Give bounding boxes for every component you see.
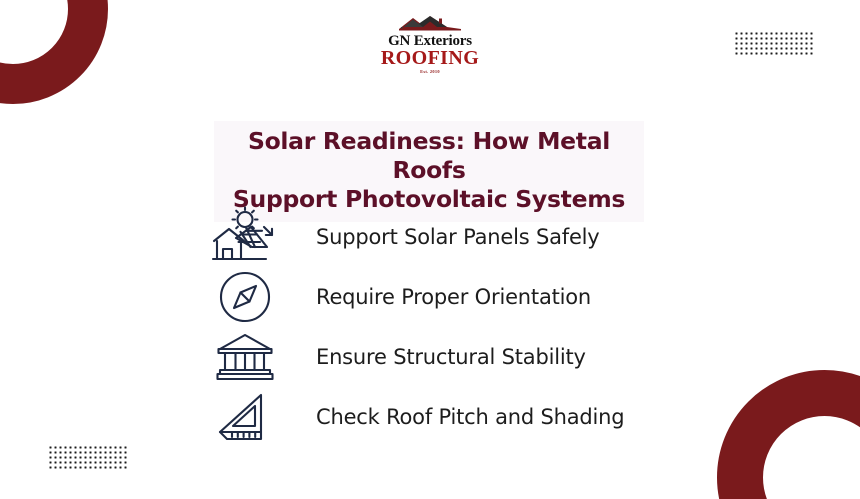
list-item: Check Roof Pitch and Shading (207, 387, 677, 447)
set-square-ruler-icon (207, 392, 283, 442)
logo-established-text: Est. 2010 (420, 69, 440, 74)
list-item: Support Solar Panels Safely (207, 207, 677, 267)
classical-building-columns-icon (207, 332, 283, 382)
ring-decoration-bottom-right (717, 370, 860, 499)
logo-wordmark-line2: ROOFING (381, 48, 479, 68)
list-item-label: Require Proper Orientation (283, 285, 591, 309)
house-solar-panel-sun-icon (207, 206, 283, 268)
page-title: Solar Readiness: How Metal Roofs Support… (218, 127, 640, 214)
list-item: Require Proper Orientation (207, 267, 677, 327)
list-item-label: Ensure Structural Stability (283, 345, 586, 369)
dot-grid-decoration-bottom-left (48, 445, 127, 469)
infographic-canvas: GN Exteriors ROOFING Est. 2010 Solar Rea… (0, 0, 860, 499)
list-item-label: Check Roof Pitch and Shading (283, 405, 624, 429)
list-item: Ensure Structural Stability (207, 327, 677, 387)
compass-icon (207, 269, 283, 325)
brand-logo: GN Exteriors ROOFING Est. 2010 (0, 14, 860, 74)
benefit-list: Support Solar Panels Safely Require Prop… (207, 207, 677, 447)
list-item-label: Support Solar Panels Safely (283, 225, 600, 249)
